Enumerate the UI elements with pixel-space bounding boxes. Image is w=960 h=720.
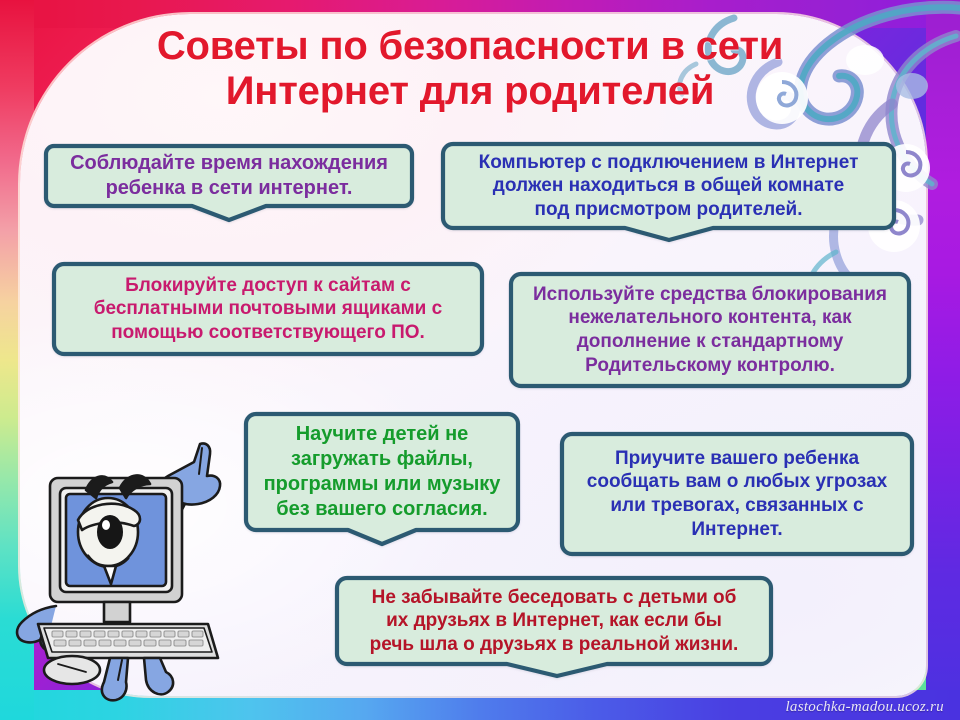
tip-line: Используйте средства блокирования	[533, 283, 887, 307]
tip-bubble-report-threats[interactable]: Приучите вашего ребенка сообщать вам о л…	[556, 428, 918, 566]
tip-line: Не забывайте беседовать с детьми об	[372, 586, 737, 610]
tip-line: их друзьях в Интернет, как если бы	[386, 609, 722, 633]
page-title: Советы по безопасности в сети Интернет д…	[120, 24, 820, 114]
tip-bubble-no-downloads[interactable]: Научите детей не загружать файлы, програ…	[240, 408, 524, 552]
tip-text: Научите детей не загружать файлы, програ…	[240, 408, 524, 536]
tip-bubble-screen-time[interactable]: Соблюдайте время нахождения ребенка в се…	[40, 140, 418, 226]
tip-line: сообщать вам о любых угрозах	[587, 470, 887, 494]
tip-line: Приучите вашего ребенка	[615, 447, 859, 471]
tip-line: Научите детей не	[296, 422, 469, 447]
tip-text: Не забывайте беседовать с детьми об их д…	[331, 572, 777, 670]
page-title-line-2: Интернет для родителей	[120, 69, 820, 114]
tip-line: под присмотром родителей.	[535, 198, 803, 222]
tip-line: нежелательного контента, как	[568, 306, 851, 330]
tip-line: бесплатными почтовыми ящиками с	[94, 297, 442, 321]
tip-line: должен находиться в общей комнате	[493, 174, 844, 198]
tip-line: Блокируйте доступ к сайтам с	[125, 274, 411, 298]
tip-bubble-common-room[interactable]: Компьютер с подключением в Интернет долж…	[437, 138, 900, 246]
page-title-line-1: Советы по безопасности в сети	[120, 24, 820, 69]
tip-line: Соблюдайте время нахождения	[70, 151, 388, 176]
tip-line: Интернет.	[691, 518, 782, 542]
tip-bubble-content-filter[interactable]: Используйте средства блокирования нежела…	[505, 268, 915, 398]
tip-text: Соблюдайте время нахождения ребенка в се…	[40, 140, 418, 212]
tip-line: речь шла о друзьях в реальной жизни.	[370, 633, 739, 657]
tip-line: Компьютер с подключением в Интернет	[479, 151, 859, 175]
tip-text: Используйте средства блокирования нежела…	[505, 268, 915, 392]
tip-bubble-talk-about-friends[interactable]: Не забывайте беседовать с детьми об их д…	[331, 572, 777, 680]
tip-line: ребенка в сети интернет.	[106, 176, 353, 201]
tip-line: или тревогах, связанных с	[610, 494, 863, 518]
tip-text: Компьютер с подключением в Интернет долж…	[437, 138, 900, 234]
frame-edge-right	[926, 0, 960, 720]
site-watermark: lastochka-madou.ucoz.ru	[785, 699, 944, 716]
computer-mascot	[12, 432, 242, 704]
tip-line: без вашего согласия.	[276, 497, 487, 522]
poster-root: Советы по безопасности в сети Интернет д…	[0, 0, 960, 720]
tip-bubble-block-free-mail[interactable]: Блокируйте доступ к сайтам с бесплатными…	[48, 258, 488, 366]
tip-line: помощью соответствующего ПО.	[111, 321, 425, 345]
tip-line: программы или музыку	[264, 472, 501, 497]
computer-mascot-icon	[12, 432, 242, 704]
tip-line: Родительскому контролю.	[585, 354, 835, 378]
tip-text: Приучите вашего ребенка сообщать вам о л…	[556, 428, 918, 560]
tip-text: Блокируйте доступ к сайтам с бесплатными…	[48, 258, 488, 360]
tip-line: дополнение к стандартному	[577, 330, 844, 354]
tip-line: загружать файлы,	[291, 447, 473, 472]
